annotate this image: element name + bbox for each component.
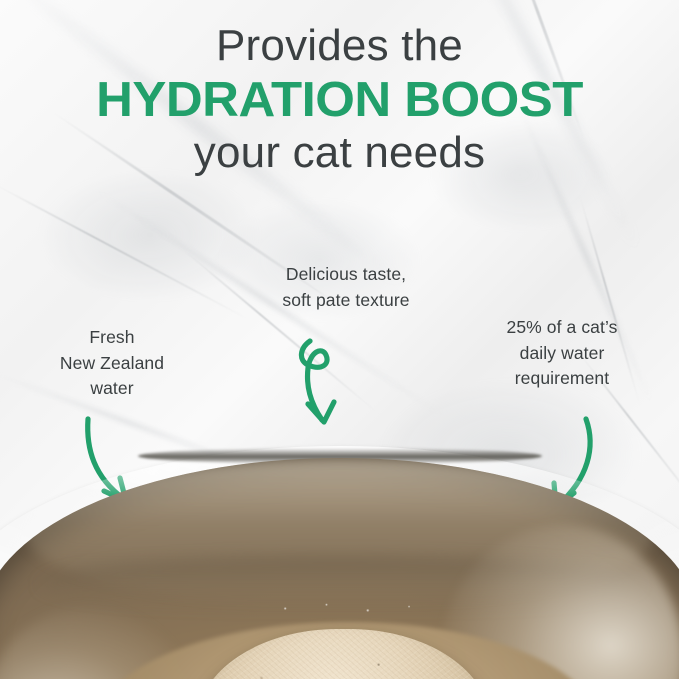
headline-block: Provides the HYDRATION BOOST your cat ne…: [0, 24, 679, 175]
callout-label-taste-texture: Delicious taste, soft pate texture: [238, 262, 454, 313]
callout-line: requirement: [464, 366, 660, 392]
callout-label-fresh-water: Fresh New Zealand water: [22, 325, 202, 402]
cat-food-bowl-photo: [0, 446, 679, 679]
callout-line: Delicious taste,: [238, 262, 454, 288]
callout-line: Fresh: [22, 325, 202, 351]
callout-line: New Zealand: [22, 351, 202, 377]
headline-line-1: Provides the: [0, 24, 679, 68]
callout-line: soft pate texture: [238, 288, 454, 314]
pate-flecks: [197, 629, 491, 679]
broth-bubbles: [268, 599, 440, 618]
headline-line-3: your cat needs: [0, 131, 679, 175]
callout-line: daily water: [464, 341, 660, 367]
callout-line: water: [22, 376, 202, 402]
callout-label-daily-water: 25% of a cat’s daily water requirement: [464, 315, 660, 392]
promo-image: Provides the HYDRATION BOOST your cat ne…: [0, 0, 679, 679]
pate-food-patty: [197, 629, 491, 679]
bowl-interior: [0, 458, 679, 679]
callout-line: 25% of a cat’s: [464, 315, 660, 341]
looped-arrow-down-icon: [296, 338, 352, 430]
headline-line-2-hydration-boost: HYDRATION BOOST: [0, 76, 679, 125]
